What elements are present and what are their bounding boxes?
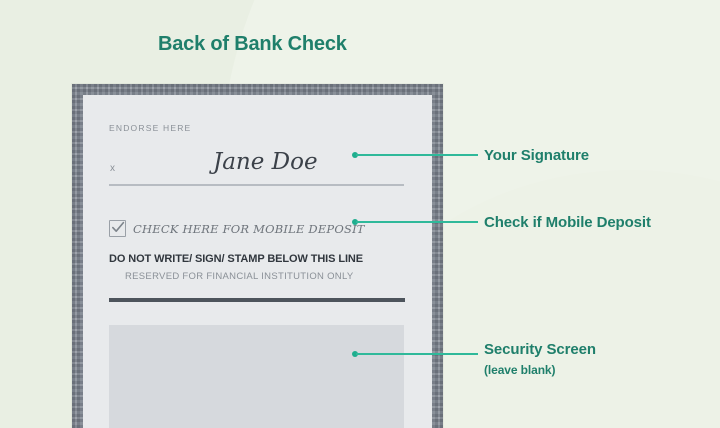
check-icon: [111, 221, 125, 235]
signature-x-mark: x: [110, 163, 115, 174]
do-not-write-below-line: [109, 298, 405, 302]
check-endorsement-area: ENDORSE HERE x Jane Doe CHECK HERE FOR M…: [83, 95, 432, 428]
leader-line-mobile-deposit: [356, 221, 478, 223]
warning-secondary-text: RESERVED FOR FINANCIAL INSTITUTION ONLY: [125, 271, 353, 282]
annotation-label-security-screen: Security Screen: [484, 341, 596, 358]
security-screen-area: [109, 325, 404, 428]
annotation-label-mobile-deposit: Check if Mobile Deposit: [484, 214, 651, 231]
diagram-canvas: Back of Bank Check ENDORSE HERE x Jane D…: [0, 0, 720, 428]
page-title: Back of Bank Check: [158, 33, 347, 56]
bank-check-illustration: ENDORSE HERE x Jane Doe CHECK HERE FOR M…: [72, 84, 443, 428]
signature-line: [109, 184, 404, 186]
leader-line-security-screen: [356, 353, 478, 355]
annotation-sublabel-security-screen: (leave blank): [484, 363, 555, 377]
mobile-deposit-checkbox[interactable]: [109, 220, 126, 237]
annotation-label-signature: Your Signature: [484, 147, 589, 164]
endorse-here-label: ENDORSE HERE: [109, 123, 191, 133]
signature-value: Jane Doe: [213, 149, 318, 175]
warning-primary-text: DO NOT WRITE/ SIGN/ STAMP BELOW THIS LIN…: [109, 253, 363, 265]
mobile-deposit-row[interactable]: CHECK HERE FOR MOBILE DEPOSIT: [109, 220, 365, 237]
leader-line-signature: [356, 154, 478, 156]
mobile-deposit-label: CHECK HERE FOR MOBILE DEPOSIT: [133, 222, 365, 236]
